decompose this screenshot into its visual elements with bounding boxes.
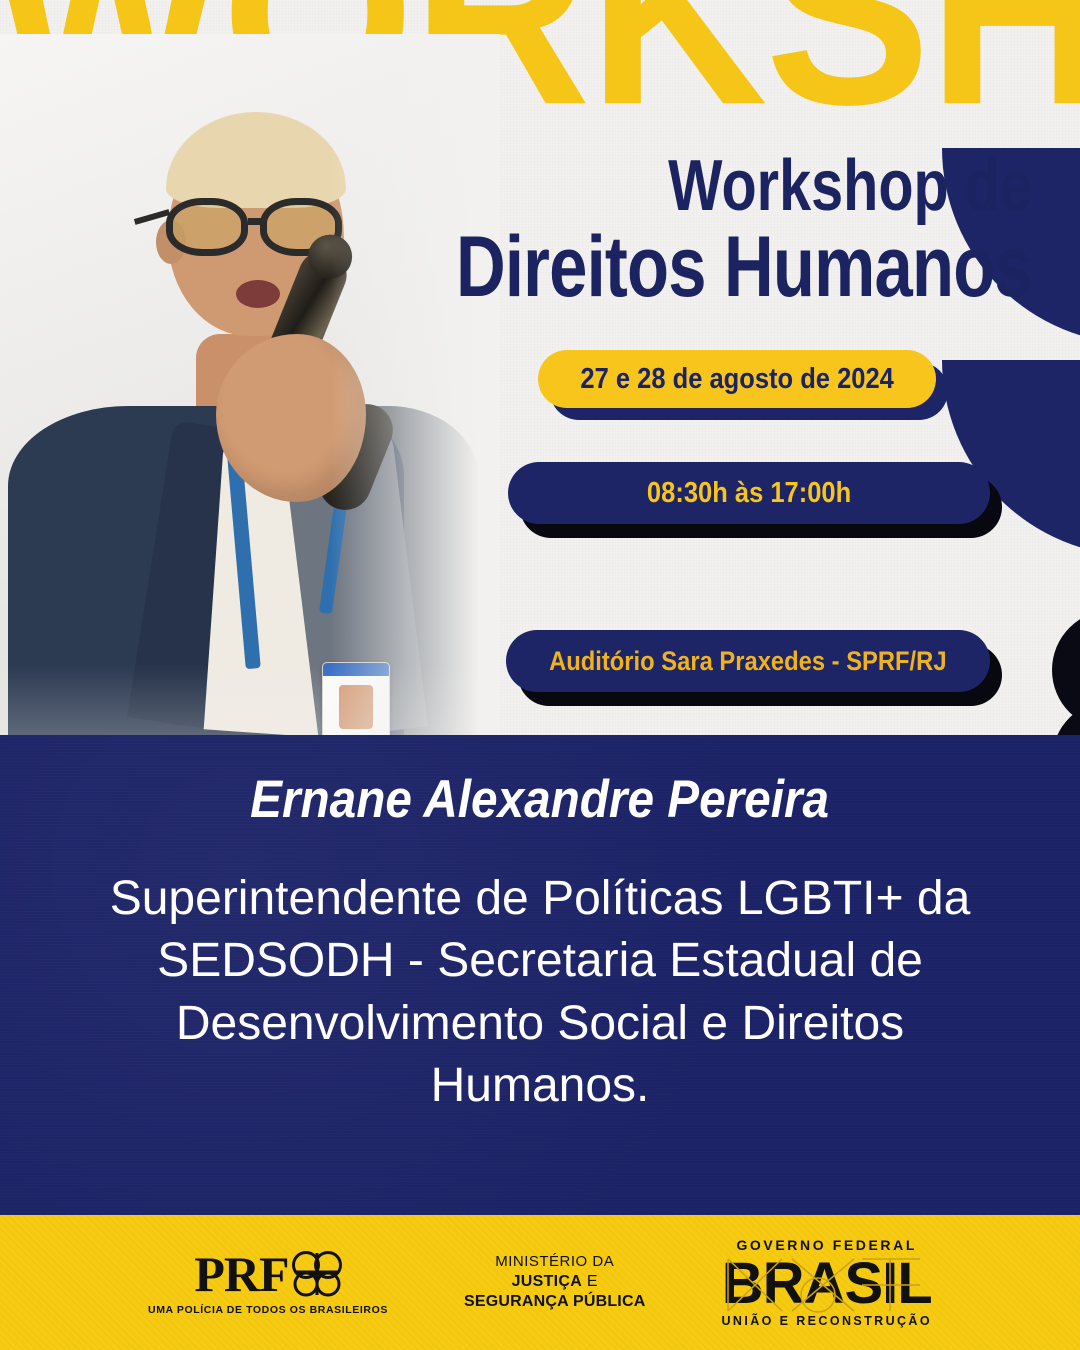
prf-logo-row: PRF [194,1249,341,1299]
poster-speaker-panel: Ernane Alexandre Pereira Superintendente… [0,735,1080,1215]
prf-tagline: UMA POLÍCIA DE TODOS OS BRASILEIROS [148,1304,388,1316]
poster-headline: Workshop de Direitos Humanos [312,152,1032,309]
photo-edge-fade-bottom [0,665,500,735]
ministry-line-2: JUSTIÇA E [464,1272,645,1292]
headline-line-1: Workshop de [456,152,1032,221]
badge-date: 27 e 28 de agosto de 2024 [538,350,936,408]
badge-place: Auditório Sara Praxedes - SPRF/RJ [506,630,990,692]
ministry-line-1: MINISTÉRIO DA [464,1253,645,1272]
badge-place-label: Auditório Sara Praxedes - SPRF/RJ [549,646,946,677]
speaker-role: Superintendente de Políticas LGBTI+ da S… [75,868,1005,1118]
government-tagline: UNIÃO E RECONSTRUÇÃO [721,1314,932,1328]
headline-line-2: Direitos Humanos [456,225,1032,309]
badge-date-label: 27 e 28 de agosto de 2024 [580,363,894,396]
ministry-line-2-bold: JUSTIÇA [512,1273,583,1290]
poster-top-panel: WORKSHOP [0,0,1080,735]
poster-footer: PRF UMA POLÍCIA DE TODOS OS BRASILEIROS … [0,1215,1080,1350]
speaker-photo [0,34,500,735]
logo-ministry: MINISTÉRIO DA JUSTIÇA E SEGURANÇA PÚBLIC… [464,1253,645,1312]
speaker-name: Ernane Alexandre Pereira [0,773,1080,826]
decorative-navy-arc-2 [942,360,1080,556]
badge-time-label: 08:30h às 17:00h [647,477,851,510]
logo-prf: PRF UMA POLÍCIA DE TODOS OS BRASILEIROS [148,1249,388,1316]
photo-mouth [236,280,280,308]
poster-root: WORKSHOP [0,0,1080,1350]
ministry-line-2-rest: E [582,1273,598,1290]
brasil-wordmark-wrap: BRASIL [722,1255,932,1313]
prf-emblem-icon [292,1251,342,1297]
logo-government: GOVERNO FEDERAL BRASIL UNIÃO E RECONSTRU… [721,1237,932,1328]
glasses-lens-left [166,198,248,256]
speaker-name-text: Ernane Alexandre Pereira [251,773,830,826]
prf-wordmark: PRF [194,1249,288,1299]
brasil-geometric-overlay-icon [722,1255,928,1315]
ministry-line-3: SEGURANÇA PÚBLICA [464,1292,645,1312]
photo-edge-fade-right [330,34,500,735]
badge-time: 08:30h às 17:00h [508,462,990,524]
